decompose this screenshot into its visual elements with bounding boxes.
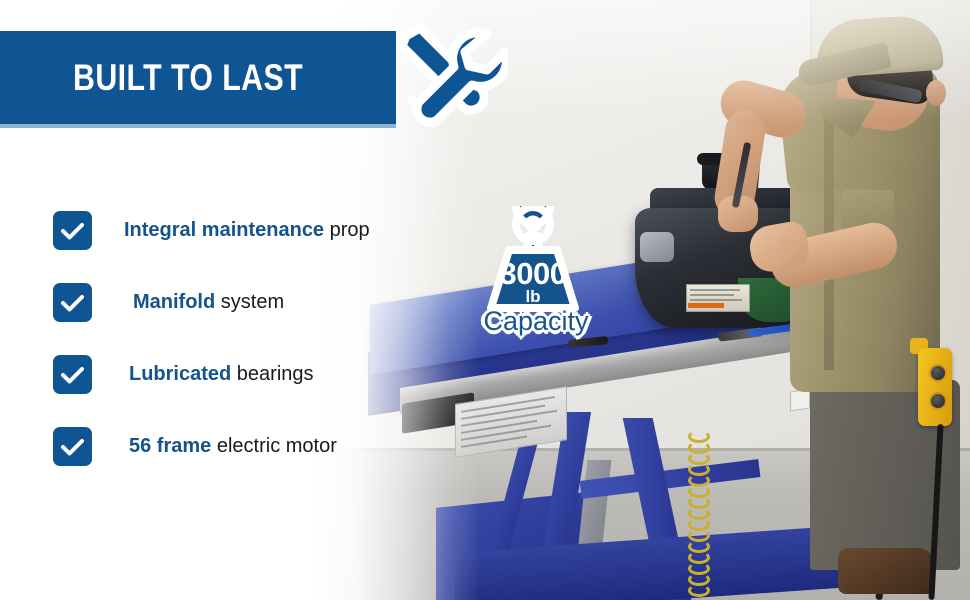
capacity-value: 3000 xyxy=(472,258,594,289)
checkmark-icon xyxy=(53,427,92,466)
list-item[interactable]: 56 frame electric motor xyxy=(53,421,453,493)
worker-boot xyxy=(838,548,934,594)
capacity-unit: lb xyxy=(472,288,594,305)
header-banner: BUILT TO LAST xyxy=(0,31,396,124)
list-item-rest: electric motor xyxy=(211,435,337,457)
checkmark-icon xyxy=(53,211,92,250)
list-item[interactable]: Lubricated bearings xyxy=(53,349,453,421)
list-item[interactable]: Manifold system xyxy=(53,277,453,349)
list-item[interactable]: Integral maintenance prop xyxy=(53,205,453,277)
list-item-rest: prop xyxy=(324,219,370,241)
checkmark-icon xyxy=(53,355,92,394)
crossed-screwdriver-wrench-icon xyxy=(386,18,508,128)
engine-warning-strip xyxy=(688,303,724,308)
list-item-emphasis: Integral maintenance xyxy=(124,219,324,241)
pendant-control xyxy=(918,348,952,426)
pendant-down-button[interactable] xyxy=(929,392,947,410)
list-item-emphasis: Manifold xyxy=(133,291,215,313)
infographic-canvas: BUILT TO LAST Integral maintenance prop xyxy=(0,0,970,600)
list-item-emphasis: 56 frame xyxy=(129,435,211,457)
capacity-badge: 3000 lb Capacity xyxy=(472,206,602,348)
screwdriver-handle-dot xyxy=(408,96,418,106)
capacity-label: Capacity xyxy=(466,308,606,335)
pendant-up-button[interactable] xyxy=(929,364,947,382)
engine-side-fitting xyxy=(640,232,674,262)
page-title: BUILT TO LAST xyxy=(73,59,303,96)
feature-list: Integral maintenance prop Manifold syste… xyxy=(53,205,453,493)
checkmark-icon xyxy=(53,283,92,322)
list-item-emphasis: Lubricated xyxy=(129,363,231,385)
list-item-rest: bearings xyxy=(231,363,313,385)
coiled-cable xyxy=(688,430,710,600)
list-item-rest: system xyxy=(215,291,284,313)
banner-underline xyxy=(0,124,396,128)
